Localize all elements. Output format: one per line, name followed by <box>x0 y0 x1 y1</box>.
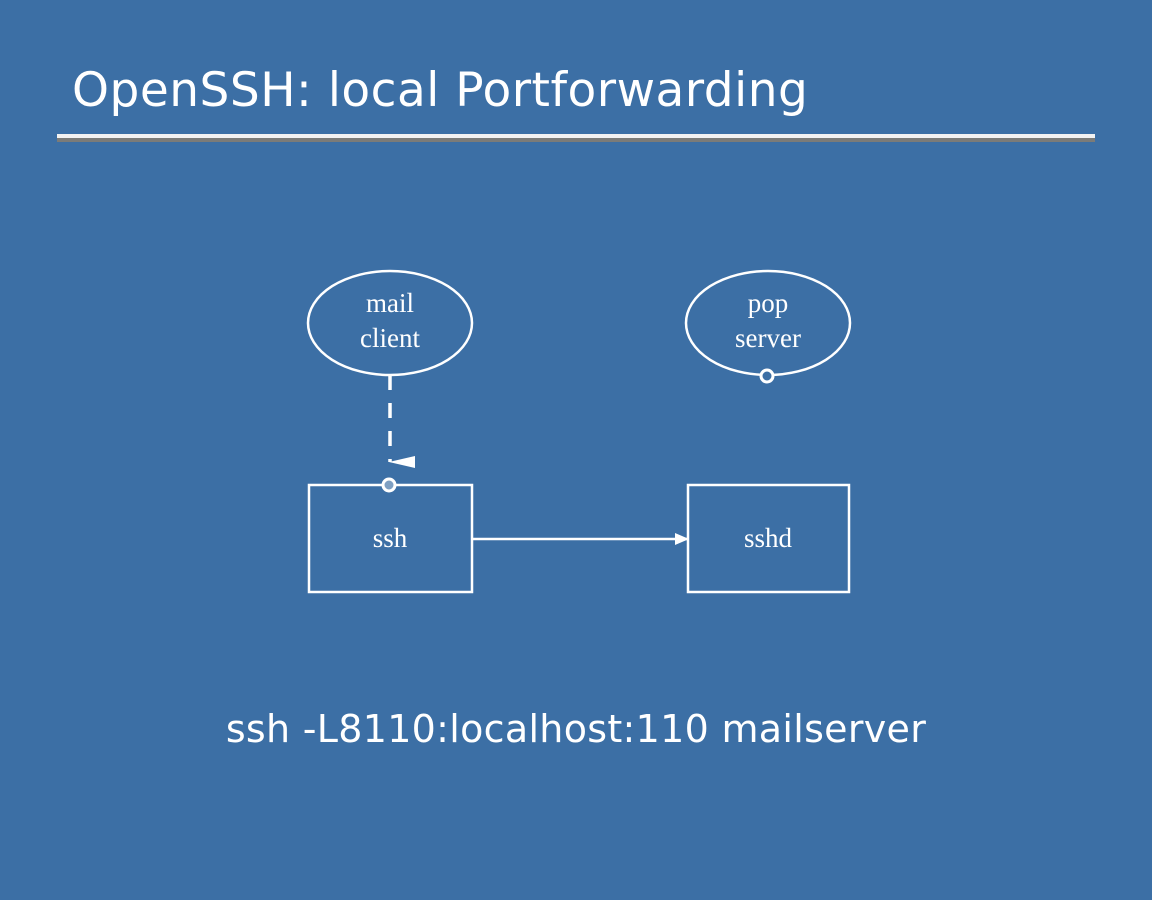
diagram: mail client pop server ssh sshd <box>0 0 1152 900</box>
node-mail-client[interactable]: mail client <box>308 271 472 375</box>
ssh-port-dot[interactable] <box>383 479 395 491</box>
node-ssh[interactable]: ssh <box>309 479 472 592</box>
node-sshd[interactable]: sshd <box>688 485 849 592</box>
pop-server-port-dot[interactable] <box>761 370 773 382</box>
mail-client-label-line2: client <box>360 323 420 353</box>
sshd-label: sshd <box>744 523 793 553</box>
command-caption: ssh -L8110:localhost:110 mailserver <box>0 707 1152 751</box>
pop-server-label-line1: pop <box>748 288 789 318</box>
mail-client-label-line1: mail <box>366 288 414 318</box>
node-pop-server[interactable]: pop server <box>686 271 850 382</box>
ssh-label: ssh <box>373 523 408 553</box>
slide: OpenSSH: local Portforwarding mail clien… <box>0 0 1152 900</box>
pop-server-label-line2: server <box>735 323 801 353</box>
